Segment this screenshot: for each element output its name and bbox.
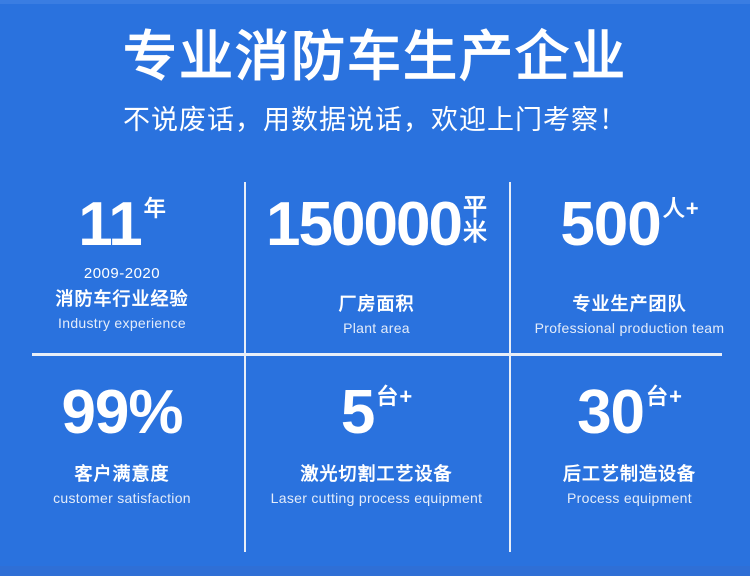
stat-label-en: Plant area <box>343 320 410 338</box>
stat-cell-industry-experience: 11 年 2009-2020 消防车行业经验 Industry experien… <box>0 178 244 354</box>
stat-unit: 台 <box>376 386 398 408</box>
subheadline: 不说废话，用数据说话，欢迎上门考察！ <box>0 104 750 136</box>
banner-header: 专业消防车生产企业 不说废话，用数据说话，欢迎上门考察！ <box>0 0 750 136</box>
stat-number: 500 <box>560 196 660 253</box>
headline: 专业消防车生产企业 <box>0 26 750 88</box>
stat-number-line: 99% <box>61 384 182 441</box>
stat-label-cn: 厂房面积 <box>339 293 415 316</box>
stat-number: 99% <box>61 384 182 441</box>
stat-number-line: 500 人 + <box>560 196 698 253</box>
stat-year-range: 2009-2020 <box>84 265 160 283</box>
stat-number: 5 <box>341 384 374 441</box>
bottom-edge-band <box>0 566 750 576</box>
stat-unit-suffix: 台 + <box>646 386 682 408</box>
stat-cell-customer-satisfaction: 99% 客户满意度 customer satisfaction <box>0 354 244 556</box>
stat-unit-line1: 平 <box>463 196 487 221</box>
stat-number: 11 <box>78 196 142 253</box>
stat-plus: + <box>399 386 412 408</box>
stat-number-line: 5 台 + <box>341 384 412 441</box>
stat-plus: + <box>669 386 682 408</box>
stat-label-cn: 客户满意度 <box>75 463 170 486</box>
stat-unit-suffix: 人 + <box>663 198 699 220</box>
stat-cell-process-equipment: 30 台 + 后工艺制造设备 Process equipment <box>509 354 750 556</box>
stat-label-en: customer satisfaction <box>53 490 191 508</box>
stat-label-en: Process equipment <box>567 490 692 508</box>
stat-unit: 人 <box>663 198 685 220</box>
stat-label-en: Laser cutting process equipment <box>271 490 483 508</box>
stat-unit: 台 <box>646 386 668 408</box>
stat-unit-suffix: 台 + <box>376 386 412 408</box>
stat-unit-suffix: 平 米 <box>463 196 487 246</box>
stat-cell-laser-cutting-equipment: 5 台 + 激光切割工艺设备 Laser cutting process equ… <box>244 354 509 556</box>
stat-label-en: Industry experience <box>58 315 186 333</box>
stat-unit: 年 <box>144 198 166 220</box>
stat-unit-line2: 米 <box>463 221 487 246</box>
stat-cell-plant-area: 150000 平 米 厂房面积 Plant area <box>244 178 509 354</box>
stat-number: 150000 <box>266 196 461 253</box>
stat-number: 30 <box>577 384 644 441</box>
stat-plus: + <box>686 198 699 220</box>
promo-banner: 专业消防车生产企业 不说废话，用数据说话，欢迎上门考察！ 11 年 2009-2… <box>0 0 750 576</box>
stat-label-cn: 专业生产团队 <box>573 293 687 316</box>
stat-unit-suffix: 年 <box>144 198 166 220</box>
stat-number-line: 150000 平 米 <box>266 196 487 253</box>
stat-label-cn: 激光切割工艺设备 <box>301 463 453 486</box>
stat-cell-production-team: 500 人 + 专业生产团队 Professional production t… <box>509 178 750 354</box>
stat-number-line: 11 年 <box>78 196 166 253</box>
stat-label-cn: 后工艺制造设备 <box>563 463 696 486</box>
stat-label-cn: 消防车行业经验 <box>56 288 189 311</box>
stat-number-line: 30 台 + <box>577 384 682 441</box>
stats-grid: 11 年 2009-2020 消防车行业经验 Industry experien… <box>0 178 750 556</box>
stat-label-en: Professional production team <box>535 320 725 338</box>
